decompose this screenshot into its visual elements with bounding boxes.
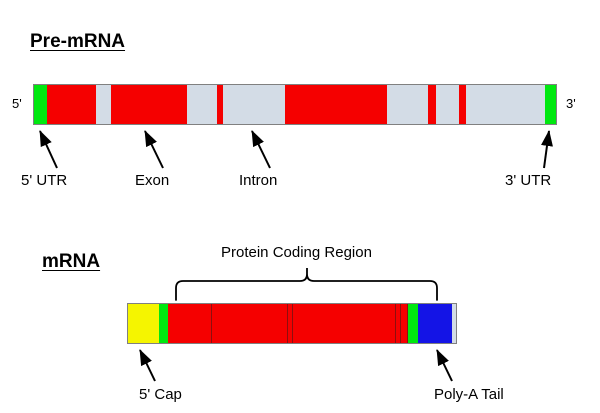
label-5-prime-utr: 5' UTR	[21, 172, 67, 189]
mrna-segment-5-prime-cap	[128, 304, 159, 343]
pre-mrna-segment-intron-4	[387, 85, 428, 124]
pre-mrna-segment-exon-3	[217, 85, 224, 124]
mrna-title: mRNA	[42, 251, 100, 273]
label-poly-a-tail: Poly-A Tail	[434, 386, 504, 403]
diagram-canvas: Pre-mRNA 5' 3' 5' UTR Exon Intron 3' UTR…	[0, 0, 600, 413]
label-5-prime-cap: 5' Cap	[139, 386, 182, 403]
arrow-intron	[252, 131, 270, 168]
mrna-segment-5-prime-utr	[159, 304, 168, 343]
pre-mrna-5-prime-end-label: 5'	[12, 96, 22, 111]
pre-mrna-segment-intron-6	[466, 85, 545, 124]
mrna-segment-exon-4	[293, 304, 396, 343]
pre-mrna-segment-exon-5	[428, 85, 437, 124]
pre-mrna-segment-intron-3	[223, 85, 285, 124]
mrna-segment-poly-a-tail	[418, 304, 453, 343]
pre-mrna-segment-exon-2	[111, 85, 187, 124]
pre-mrna-segment-3-prime-utr	[545, 85, 556, 124]
label-3-prime-utr: 3' UTR	[505, 172, 551, 189]
mrna-segment-exon-1	[168, 304, 213, 343]
arrow-3-prime-utr	[544, 131, 549, 168]
pre-mrna-3-prime-end-label: 3'	[566, 96, 576, 111]
label-intron: Intron	[239, 172, 277, 189]
pre-mrna-transcript-bar	[33, 84, 557, 125]
pre-mrna-segment-intron-2	[187, 85, 217, 124]
pre-mrna-segment-exon-4	[285, 85, 387, 124]
arrow-exon	[145, 131, 163, 168]
mrna-transcript-bar	[127, 303, 457, 344]
pre-mrna-segment-exon-1	[47, 85, 96, 124]
arrow-5-prime-cap	[140, 350, 155, 381]
arrow-5-prime-utr	[40, 131, 57, 168]
label-exon: Exon	[135, 172, 169, 189]
pre-mrna-segment-intron-5	[436, 85, 459, 124]
annotation-overlay	[0, 0, 600, 413]
pre-mrna-segment-exon-6	[459, 85, 466, 124]
pre-mrna-segment-5-prime-utr	[34, 85, 47, 124]
pre-mrna-title: Pre-mRNA	[30, 31, 125, 53]
label-protein-coding-region: Protein Coding Region	[221, 244, 372, 261]
pre-mrna-segment-intron-1	[96, 85, 111, 124]
mrna-segment-exon-6	[401, 304, 408, 343]
protein-coding-region-bracket	[176, 268, 437, 300]
mrna-segment-exon-2	[212, 304, 287, 343]
mrna-segment-3-prime-utr	[408, 304, 418, 343]
arrow-poly-a-tail	[437, 350, 452, 381]
